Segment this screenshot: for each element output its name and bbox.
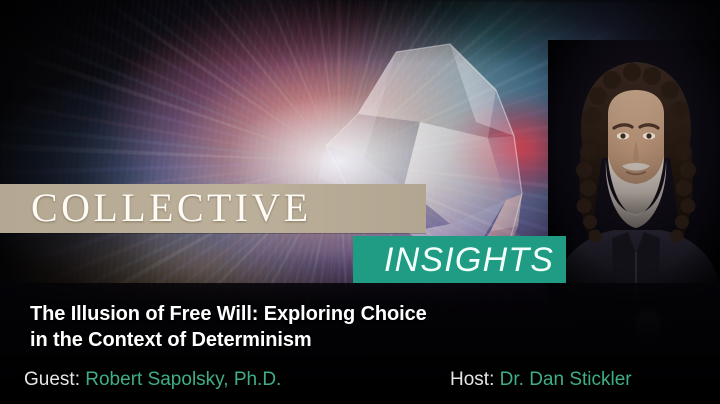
- guest-credit: Guest: Robert Sapolsky, Ph.D.: [24, 368, 281, 391]
- host-credit: Host: Dr. Dan Stickler: [450, 368, 632, 391]
- host-label: Host:: [450, 369, 494, 390]
- episode-title-line-2: in the Context of Determinism: [30, 327, 500, 353]
- brand-title-collective: COLLECTIVE: [31, 186, 312, 230]
- guest-name: Robert Sapolsky, Ph.D.: [85, 369, 281, 390]
- brand-title-insights: INSIGHTS: [384, 240, 554, 280]
- episode-title: The Illusion of Free Will: Exploring Cho…: [30, 301, 500, 353]
- guest-portrait-photo: [548, 40, 720, 306]
- episode-title-line-1: The Illusion of Free Will: Exploring Cho…: [30, 301, 500, 327]
- guest-label: Guest:: [24, 369, 80, 390]
- video-thumbnail: COLLECTIVE INSIGHTS The Illusion of Free…: [0, 0, 720, 404]
- host-name: Dr. Dan Stickler: [500, 369, 632, 390]
